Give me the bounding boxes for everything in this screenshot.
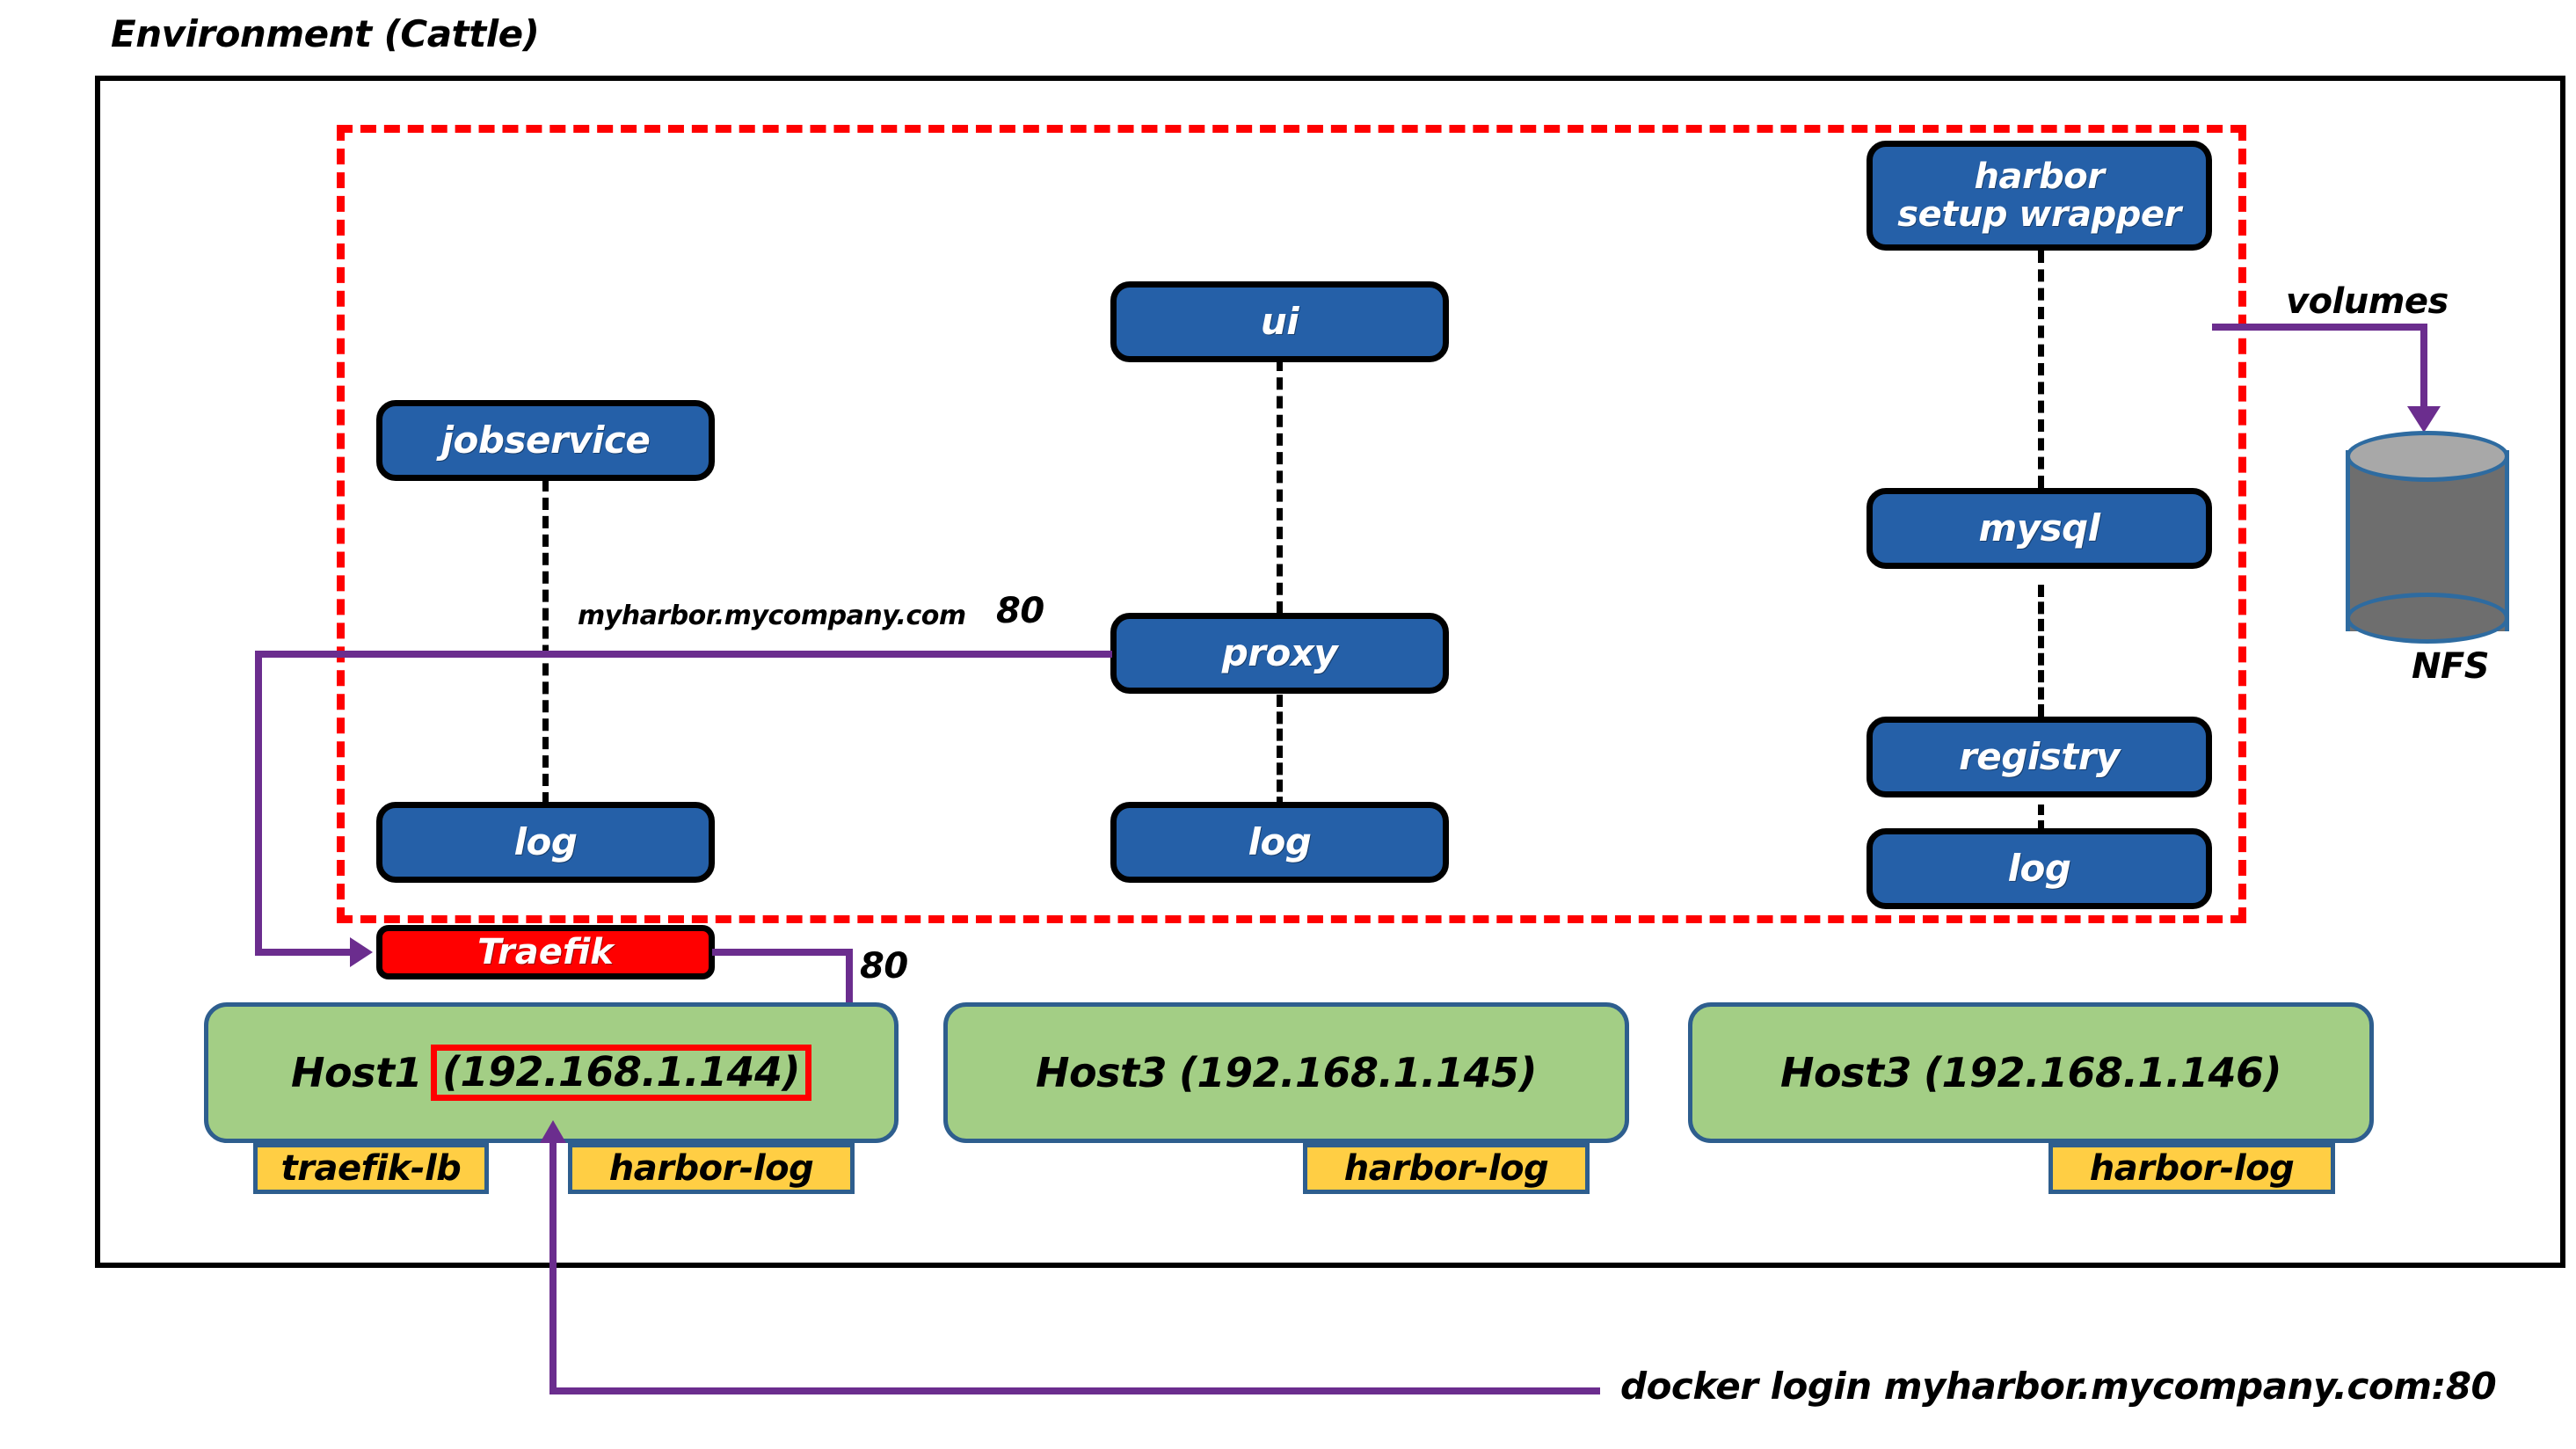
volumes-label: volumes [2286,281,2449,322]
service-registry[interactable]: registry [1867,717,2212,797]
docker-login-annotation: docker login myharbor.mycompany.com:80 [1620,1365,2496,1408]
service-label: registry [1959,738,2120,777]
route-traefik-horizontal [712,949,853,956]
service-log-left[interactable]: log [376,802,715,883]
tag-label: harbor-log [609,1148,813,1189]
service-jobservice[interactable]: jobservice [376,400,715,481]
tag-label: harbor-log [1344,1148,1548,1189]
host-ip: (192.168.1.145) [1179,1049,1537,1096]
service-ui[interactable]: ui [1110,281,1449,362]
service-label: log [2008,849,2071,889]
connector-proxy-log [1277,695,1283,809]
cylinder-bottom-ellipse [2346,593,2509,644]
route-volumes-horizontal [2212,324,2427,331]
service-label: proxy [1222,634,1338,674]
host-name: Host1 [291,1049,422,1096]
route-proxy-vertical [255,651,262,952]
service-label: jobservice [441,421,651,461]
service-label: ui [1261,302,1299,342]
route-proxy-port-label: 80 [996,591,1044,631]
nfs-storage-cylinder [2346,431,2509,651]
route-domain-label: myharbor.mycompany.com [578,601,966,631]
tag-label: harbor-log [2090,1148,2294,1189]
traefik-label: Traefik [477,932,614,972]
service-proxy[interactable]: proxy [1110,613,1449,694]
host-box-host2[interactable]: Host3 (192.168.1.145) [943,1002,1629,1143]
tag-label: traefik-lb [281,1148,462,1189]
route-docker-login-vertical [549,1143,557,1391]
service-mysql[interactable]: mysql [1867,488,2212,569]
traefik-load-balancer[interactable]: Traefik [376,925,715,979]
service-label-line1: harbor [1974,158,2104,195]
host-title-line: Host3 (192.168.1.145) [1036,1049,1537,1096]
route-proxy-horizontal [255,651,1112,658]
connector-wrapper-mysql [2038,251,2044,488]
route-volumes-vertical [2420,324,2427,409]
cylinder-top-ellipse [2346,431,2509,482]
connector-registry-log [2038,805,2044,831]
service-label-line2: setup wrapper [1897,196,2180,233]
service-log-middle[interactable]: log [1110,802,1449,883]
service-label: log [514,823,578,863]
route-arrow-into-traefik [350,937,373,967]
service-label: mysql [1978,509,2099,549]
service-log-right[interactable]: log [1867,828,2212,909]
diagram-canvas: Environment (Cattle) jobservice log ui p… [0,0,2576,1449]
nfs-label: NFS [2412,646,2489,687]
host-tag-harbor-log-host2[interactable]: harbor-log [1303,1143,1590,1194]
host-ip-highlighted: (192.168.1.144) [431,1045,811,1101]
connector-ui-proxy [1277,359,1283,614]
service-label: log [1248,823,1312,863]
traefik-port-label: 80 [860,946,908,987]
host-tag-harbor-log-host3[interactable]: harbor-log [2048,1143,2335,1194]
host-box-host3[interactable]: Host3 (192.168.1.146) [1688,1002,2374,1143]
route-proxy-to-traefik [255,949,352,956]
route-docker-login-horizontal [549,1387,1600,1394]
service-harbor-setup-wrapper[interactable]: harbor setup wrapper [1867,141,2212,251]
connector-jobservice-log [542,479,549,805]
host-title-line: Host3 (192.168.1.146) [1780,1049,2281,1096]
host-title-line: Host1 (192.168.1.144) [291,1045,811,1101]
route-arrow-docker-login-into-host1 [540,1120,566,1143]
route-arrow-into-nfs [2407,406,2441,433]
host-tag-traefik-lb[interactable]: traefik-lb [253,1143,489,1194]
connector-mysql-registry [2038,585,2044,717]
host-name: Host3 [1780,1049,1911,1096]
host-name: Host3 [1036,1049,1167,1096]
environment-title: Environment (Cattle) [111,12,539,55]
host-ip: (192.168.1.146) [1924,1049,2281,1096]
host-tag-harbor-log-host1[interactable]: harbor-log [568,1143,855,1194]
